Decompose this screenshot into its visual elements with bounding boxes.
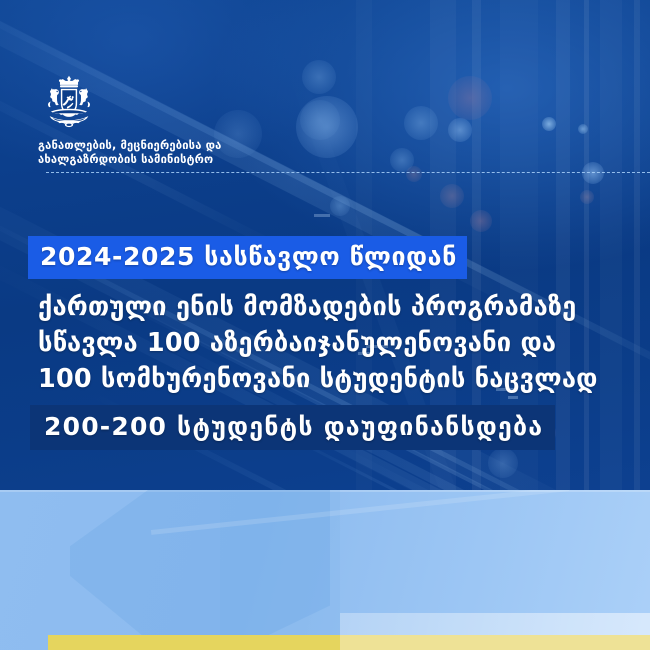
- headline-line-1-wrapper: 2024-2025 სასწავლო წლიდან: [0, 236, 650, 279]
- background-bokeh-circle: [542, 117, 556, 131]
- background-dash: [314, 214, 330, 217]
- headline-block: 2024-2025 სასწავლო წლიდან ქართული ენის მ…: [0, 236, 650, 450]
- accent-bar-right: [340, 635, 650, 650]
- background-bokeh-circle: [448, 76, 492, 120]
- georgian-coat-of-arms-icon: [40, 74, 98, 130]
- background-bokeh-circle: [580, 190, 594, 204]
- background-bokeh-circle: [302, 60, 336, 94]
- ministry-logo-block: განათლების, მეცნიერებისა და ახალგაზრდობი…: [38, 74, 248, 166]
- headline-line-3: სწავლა 100 აზერბაიჯანულენოვანი და: [0, 325, 650, 361]
- background-bokeh-circle: [578, 124, 588, 134]
- headline-line-5-wrapper: 200-200 სტუდენტს დაუფინანსდება: [0, 405, 650, 450]
- accent-bar-left: [48, 635, 340, 650]
- background-bokeh-circle: [440, 184, 464, 208]
- headline-spacer: [0, 279, 650, 289]
- announcement-poster: განათლების, მეცნიერებისა და ახალგაზრდობი…: [0, 0, 650, 650]
- banner-background: განათლების, მეცნიერებისა და ახალგაზრდობი…: [0, 0, 650, 490]
- background-bokeh-circle: [470, 210, 492, 232]
- background-bokeh-circle: [330, 196, 350, 216]
- headline-line-5-highlight: 200-200 სტუდენტს დაუფინანსდება: [30, 405, 555, 450]
- decorative-hexagon-shape: [70, 490, 330, 638]
- headline-line-4: 100 სომხურენოვანი სტუდენტის ნაცვლად: [0, 361, 650, 397]
- background-bokeh-circle: [488, 448, 518, 478]
- background-bokeh-circle: [404, 106, 438, 140]
- background-bokeh-circle: [300, 100, 340, 140]
- background-bokeh-circle: [448, 118, 472, 142]
- ministry-name-text: განათლების, მეცნიერებისა და ახალგაზრდობი…: [38, 139, 248, 166]
- background-bokeh-circle: [406, 166, 422, 182]
- headline-spacer: [0, 397, 650, 405]
- headline-line-2: ქართული ენის მომზადების პროგრამაზე: [0, 289, 650, 325]
- dashed-divider: [46, 172, 650, 173]
- background-bokeh-circle: [582, 162, 604, 184]
- headline-line-1-highlight: 2024-2025 სასწავლო წლიდან: [28, 236, 467, 279]
